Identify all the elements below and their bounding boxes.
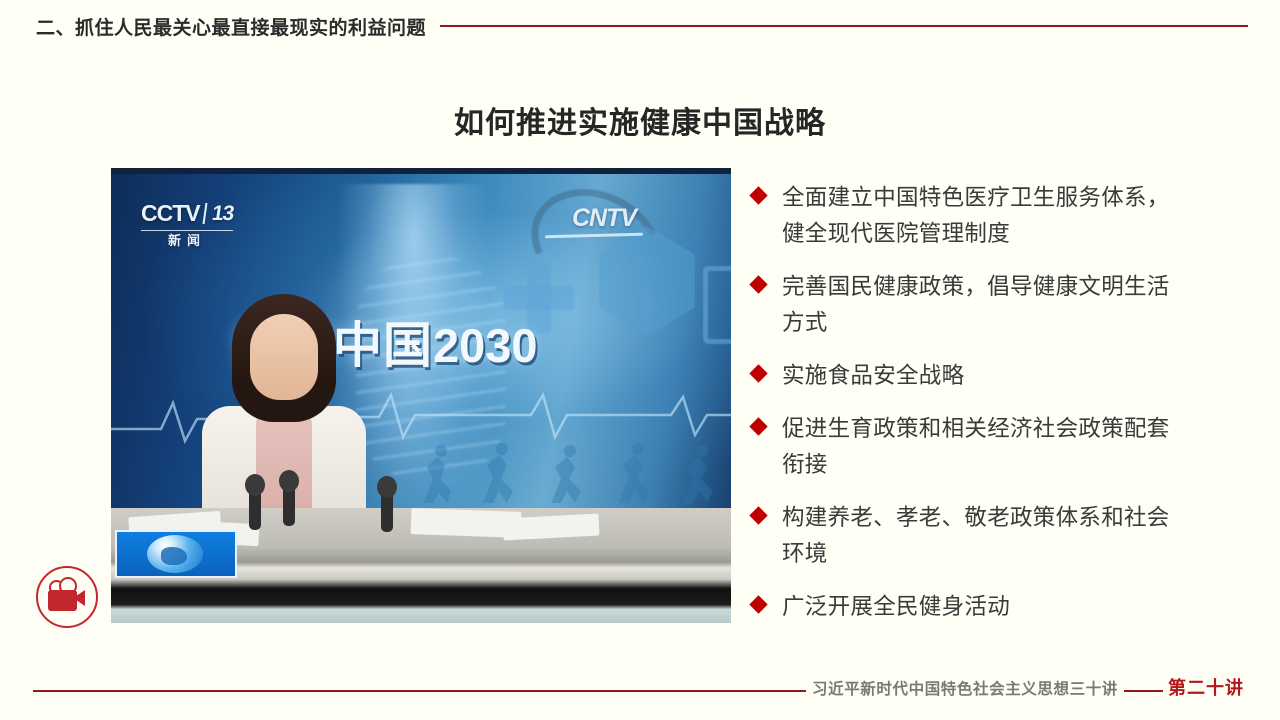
list-item[interactable]: 完善国民健康政策，倡导健康文明生活方式: [752, 269, 1192, 341]
video-still-image[interactable]: CCTV 13 新闻 CNTV 健康中国2030: [111, 168, 731, 623]
video-camera-icon[interactable]: [36, 566, 98, 628]
list-item[interactable]: 促进生育政策和相关经济社会政策配套衔接: [752, 411, 1192, 483]
globe-lower-third-graphic: [115, 530, 237, 578]
cctv-logo-text: CCTV: [141, 202, 200, 225]
clipboard-icon: [703, 266, 731, 344]
camera-lens-icon: [73, 590, 85, 606]
section-index-label: 二、抓住人民最关心最直接最现实的利益问题: [36, 13, 426, 40]
list-item-label: 实施食品安全战略: [782, 358, 964, 394]
diamond-bullet-icon: [749, 364, 767, 382]
list-item[interactable]: 构建养老、孝老、敬老政策体系和社会环境: [752, 500, 1192, 572]
list-item-label: 构建养老、孝老、敬老政策体系和社会环境: [782, 500, 1192, 572]
cctv-channel-subtitle: 新闻: [141, 230, 233, 247]
diamond-bullet-icon: [749, 186, 767, 204]
diamond-bullet-icon: [749, 506, 767, 524]
footer-series-label: 习近平新时代中国特色社会主义思想三十讲: [806, 677, 1124, 699]
desk-microphone: [283, 480, 295, 526]
footer-lecture-label: 第二十讲: [1163, 674, 1249, 700]
list-item[interactable]: 全面建立中国特色医疗卫生服务体系，健全现代医院管理制度: [752, 180, 1192, 252]
list-item-label: 完善国民健康政策，倡导健康文明生活方式: [782, 269, 1192, 341]
desk-microphone: [249, 484, 261, 530]
cctv-channel-logo: CCTV 13 新闻: [141, 202, 233, 247]
desk-paper: [502, 514, 599, 541]
cctv-channel-number: 13: [202, 203, 234, 224]
desk-microphone: [381, 486, 393, 532]
diamond-bullet-icon: [749, 275, 767, 293]
anchor-face: [250, 314, 318, 400]
slide-header: 二、抓住人民最关心最直接最现实的利益问题: [0, 0, 1280, 52]
globe-icon: [147, 535, 203, 573]
studio-backdrop: CCTV 13 新闻 CNTV 健康中国2030: [111, 174, 731, 514]
globe-landmass: [161, 547, 187, 565]
page-title: 如何推进实施健康中国战略: [0, 98, 1280, 142]
microphone-head: [245, 474, 265, 496]
header-divider-line: [440, 25, 1248, 27]
runner-silhouettes-graphic: [411, 429, 731, 509]
list-item-label: 广泛开展全民健身活动: [782, 589, 1010, 625]
list-item-label: 促进生育政策和相关经济社会政策配套衔接: [782, 411, 1192, 483]
diamond-bullet-icon: [749, 417, 767, 435]
list-item-label: 全面建立中国特色医疗卫生服务体系，健全现代医院管理制度: [782, 180, 1192, 252]
bullet-list: 全面建立中国特色医疗卫生服务体系，健全现代医院管理制度 完善国民健康政策，倡导健…: [752, 180, 1192, 642]
microphone-head: [377, 476, 397, 498]
list-item[interactable]: 广泛开展全民健身活动: [752, 589, 1192, 625]
program-year-text: 2030: [433, 319, 538, 372]
diamond-bullet-icon: [749, 595, 767, 613]
cntv-logo: CNTV: [572, 204, 636, 233]
list-item[interactable]: 实施食品安全战略: [752, 358, 1192, 394]
microphone-head: [279, 470, 299, 492]
